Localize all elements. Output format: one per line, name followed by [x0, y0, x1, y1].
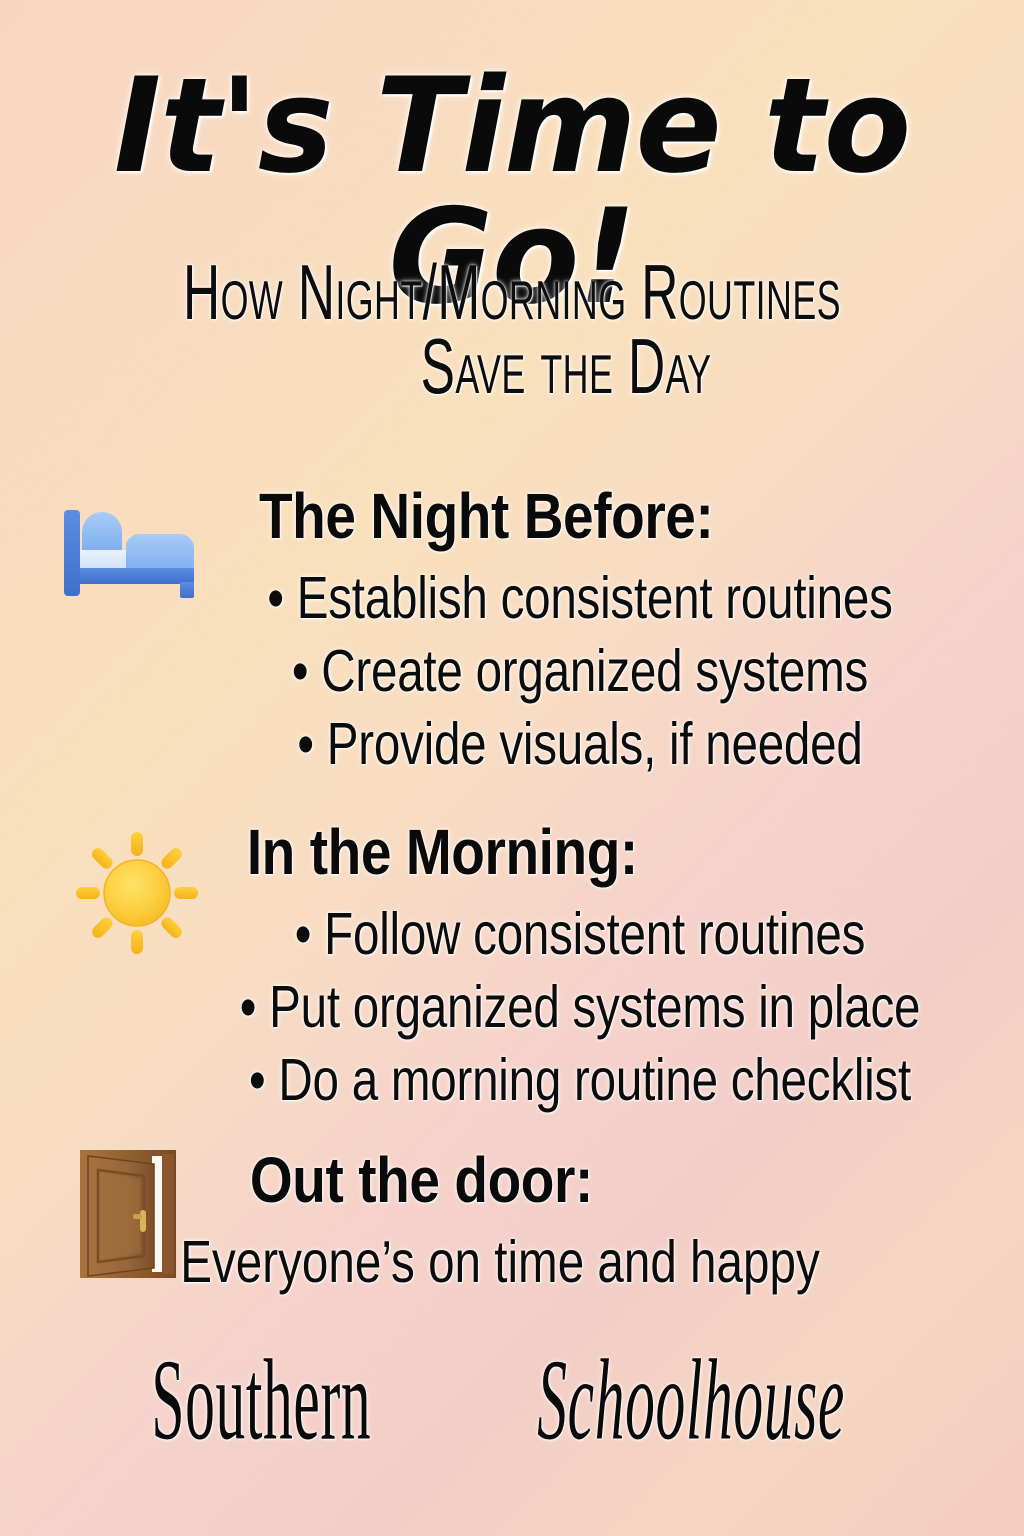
- brand-word-southern: Southern: [152, 1342, 372, 1457]
- brand-word-schoolhouse: Schoolhouse: [538, 1342, 846, 1457]
- bullet-item: • Establish consistent routines: [223, 568, 937, 627]
- subtitle-line-2: Save the Day: [167, 323, 966, 410]
- poster-canvas: It's Time to Go! How Night/Morning Routi…: [0, 0, 1024, 1536]
- section-heading-door: Out the door:: [250, 1148, 593, 1212]
- bullet-item: • Follow consistent routines: [215, 904, 946, 963]
- bullet-item: • Create organized systems: [223, 641, 937, 700]
- door-subtext: Everyone’s on time and happy: [75, 1232, 925, 1291]
- door-subtext-wrap: Everyone’s on time and happy: [0, 1234, 1000, 1290]
- bullet-list-morning: • Follow consistent routines • Put organ…: [150, 906, 1010, 1108]
- section-heading-morning: In the Morning:: [247, 820, 638, 884]
- brand-footer: Southern Schoolhouse: [0, 1352, 1024, 1448]
- bullet-item: • Provide visuals, if needed: [223, 714, 937, 773]
- bullet-list-night: • Establish consistent routines • Create…: [160, 570, 1000, 772]
- bullet-item: • Do a morning routine checklist: [215, 1050, 946, 1109]
- bullet-item: • Put organized systems in place: [215, 977, 946, 1036]
- subtitle-block: How Night/Morning Routines Save the Day: [0, 256, 1024, 404]
- section-heading-night: The Night Before:: [259, 484, 713, 548]
